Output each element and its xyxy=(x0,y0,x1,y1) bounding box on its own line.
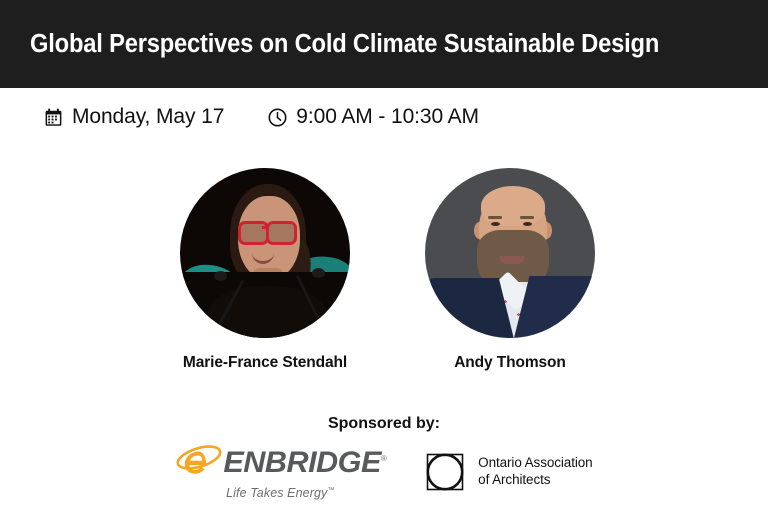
session-date: Monday, May 17 xyxy=(44,105,224,129)
enbridge-tagline-trademark: ™ xyxy=(327,487,334,494)
session-header-bar: Global Perspectives on Cold Climate Sust… xyxy=(0,0,768,88)
mouth xyxy=(499,256,525,264)
speaker-photo-andy-thomson xyxy=(425,168,595,338)
session-meta-row: Monday, May 17 9:00 AM - 10:30 AM xyxy=(44,100,479,134)
clock-icon xyxy=(268,108,287,127)
enbridge-tagline: Life Takes Energy™ xyxy=(226,486,334,500)
microphone-head-right xyxy=(312,268,325,278)
session-date-label: Monday, May 17 xyxy=(72,105,224,129)
microphone-head-left xyxy=(214,271,227,281)
enbridge-tagline-text: Life Takes Energy xyxy=(226,486,327,500)
eye-left xyxy=(491,222,500,226)
session-time-label: 9:00 AM - 10:30 AM xyxy=(296,105,479,129)
eyeglass-bridge xyxy=(262,226,268,229)
speaker-card-andy-thomson: Andy Thomson xyxy=(395,168,625,372)
oaa-wordmark: Ontario Association of Architects xyxy=(478,455,592,489)
avatar-illustration xyxy=(425,168,595,338)
sponsor-logo-ontario-association-of-architects[interactable]: Ontario Association of Architects xyxy=(423,450,592,494)
oaa-wordmark-line-1: Ontario Association xyxy=(478,455,592,470)
avatar-illustration xyxy=(180,168,350,338)
calendar-icon xyxy=(44,108,63,127)
enbridge-wordmark: ENBRIDGE® xyxy=(224,446,387,480)
oaa-square-circle-icon xyxy=(423,450,467,494)
eyeglass-lens-left xyxy=(238,221,269,245)
speaker-name: Marie-France Stendahl xyxy=(150,354,380,372)
eyebrow-right xyxy=(520,216,534,219)
enbridge-wordmark-text: ENBRIDGE xyxy=(224,446,381,479)
eyeglass-lens-right xyxy=(266,221,297,245)
speaker-photo-marie-france-stendahl xyxy=(180,168,350,338)
oaa-wordmark-line-2: of Architects xyxy=(478,472,550,487)
enbridge-registered-mark: ® xyxy=(381,454,387,463)
enbridge-e-swoosh-icon xyxy=(175,443,223,483)
session-time: 9:00 AM - 10:30 AM xyxy=(268,105,479,129)
scalp xyxy=(481,186,545,226)
sponsor-logo-enbridge[interactable]: ENBRIDGE® Life Takes Energy™ xyxy=(175,443,385,500)
eye-right xyxy=(523,222,532,226)
sponsored-by-label: Sponsored by: xyxy=(0,415,768,433)
speaker-card-marie-france-stendahl: Marie-France Stendahl xyxy=(150,168,380,372)
sponsor-logo-row: ENBRIDGE® Life Takes Energy™ Ontario Ass… xyxy=(0,443,768,500)
speaker-name: Andy Thomson xyxy=(395,354,625,372)
eyebrow-left xyxy=(488,216,502,219)
page-title: Global Perspectives on Cold Climate Sust… xyxy=(30,30,659,59)
